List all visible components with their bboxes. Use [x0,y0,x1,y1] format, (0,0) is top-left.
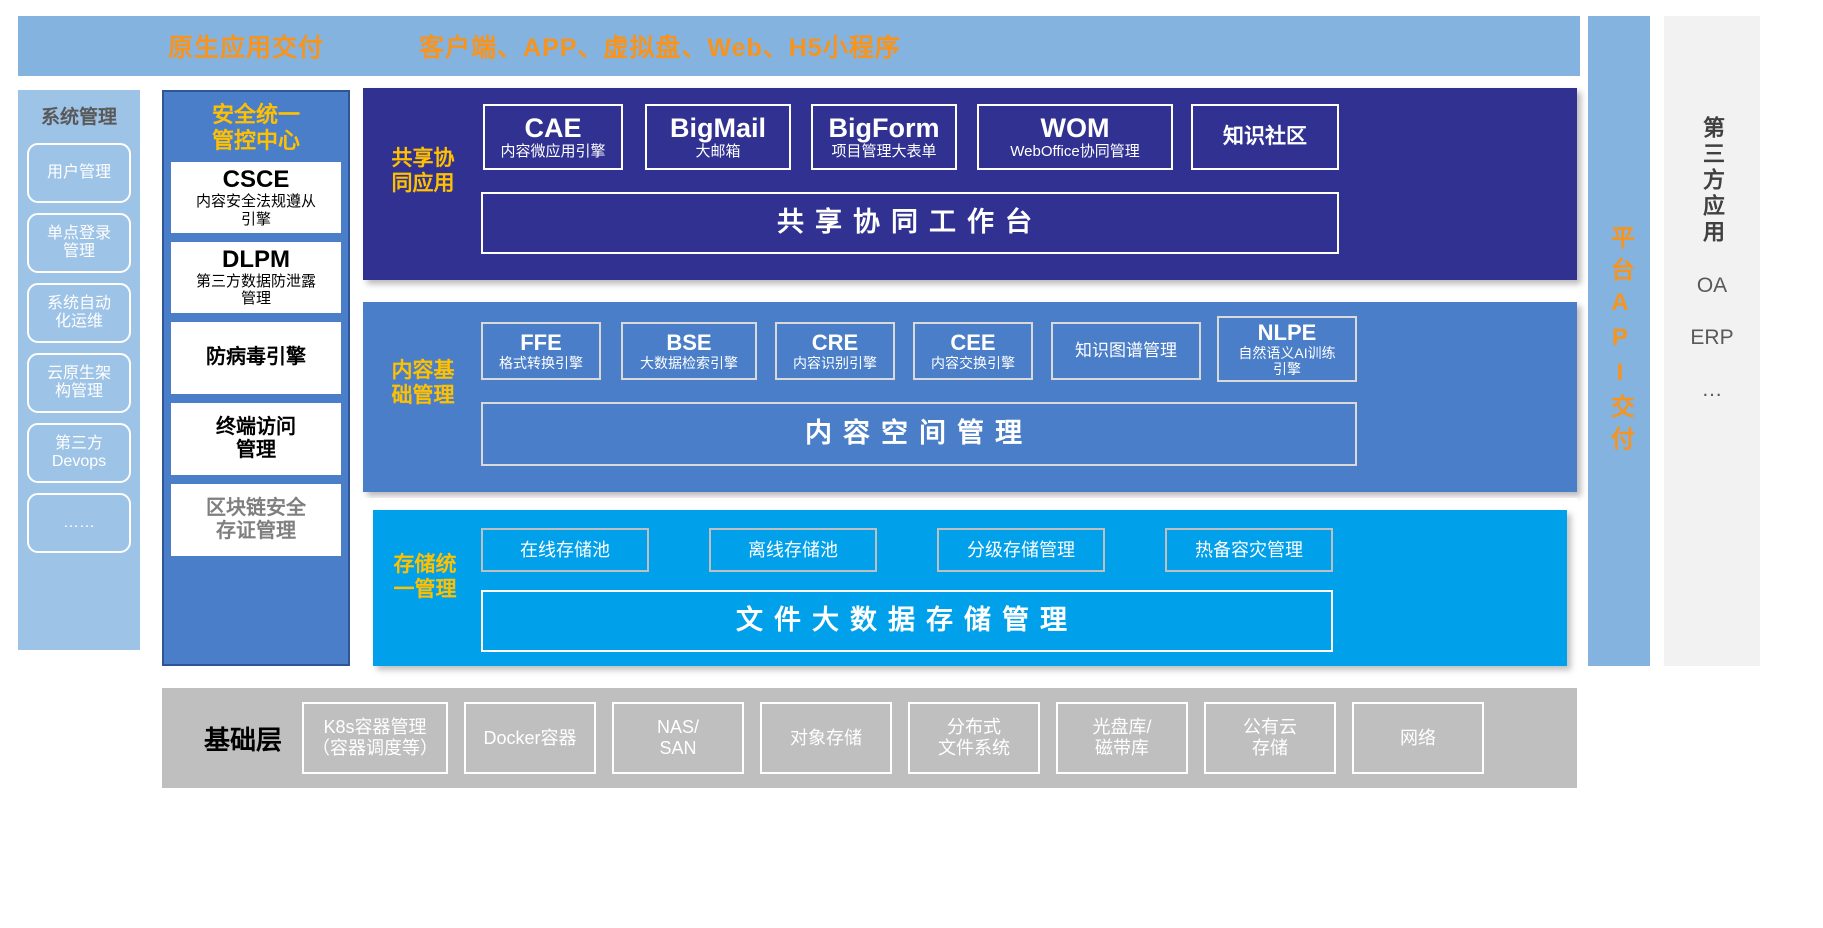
top-delivery-banner: 原生应用交付 客户端、APP、虚拟盘、Web、H5小程序 [18,16,1580,76]
content-base-label: 内容基础管理 [371,358,475,408]
storage-band-wrapper: 存储统一管理 在线存储池 离线存储池 分级存储管理 热备容灾管理 文件大数据存储… [363,498,1577,666]
sysmgmt-item-sso[interactable]: 单点登录管理 [27,213,131,273]
collab-card-cae-code: CAE [524,113,581,143]
content-card-ffe[interactable]: FFE 格式转换引擎 [481,322,601,380]
content-card-cre-sub: 内容识别引擎 [793,355,877,371]
shared-collaboration-label: 共享协同应用 [371,146,475,196]
third-party-column: 第三方应用 OA ERP … [1664,16,1760,666]
shared-collaboration-band: 共享协同应用 CAE 内容微应用引擎 BigMail 大邮箱 BigForm 项… [363,88,1577,280]
content-card-bse-code: BSE [666,331,711,356]
system-management-column: 系统管理 用户管理 单点登录管理 系统自动化运维 云原生架构管理 第三方Devo… [18,90,140,650]
security-item-csce-sub: 内容安全法规遵从引擎 [196,193,316,228]
content-card-knowledge-graph-label: 知识图谱管理 [1075,341,1177,361]
content-card-bse-sub: 大数据检索引擎 [640,355,738,371]
content-card-cee[interactable]: CEE 内容交换引擎 [913,322,1033,380]
collab-card-wom[interactable]: WOM WebOffice协同管理 [977,104,1173,170]
platform-api-label: 平台API交付 [1605,225,1634,458]
storage-card-offline-pool[interactable]: 离线存储池 [709,528,877,572]
collab-card-knowledge-community[interactable]: 知识社区 [1191,104,1339,170]
content-card-cre-code: CRE [812,331,858,356]
security-item-blockchain[interactable]: 区块链安全存证管理 [171,484,341,556]
storage-label: 存储统一管理 [375,552,475,602]
third-party-item-oa[interactable]: OA [1697,274,1727,298]
storage-main-file-bigdata[interactable]: 文件大数据存储管理 [481,590,1333,652]
storage-band: 存储统一管理 在线存储池 离线存储池 分级存储管理 热备容灾管理 文件大数据存储… [373,510,1567,666]
infra-card-k8s[interactable]: K8s容器管理（容器调度等） [302,702,448,774]
collab-card-cae-sub: 内容微应用引擎 [500,143,605,160]
security-center-title: 安全统一管控中心 [212,102,300,154]
system-management-title: 系统管理 [41,102,117,129]
banner-clients-label: 客户端、APP、虚拟盘、Web、H5小程序 [419,28,901,64]
infra-card-distributed-fs[interactable]: 分布式文件系统 [908,702,1040,774]
third-party-item-erp[interactable]: ERP [1690,326,1733,350]
content-card-bse[interactable]: BSE 大数据检索引擎 [621,322,757,380]
infra-card-optical-tape[interactable]: 光盘库/磁带库 [1056,702,1188,774]
security-item-terminal-access[interactable]: 终端访问管理 [171,403,341,475]
content-base-band: 内容基础管理 FFE 格式转换引擎 BSE 大数据检索引擎 CRE 内容识别引擎… [363,302,1577,492]
content-card-ffe-sub: 格式转换引擎 [499,355,583,371]
shared-collaboration-workbench[interactable]: 共享协同工作台 [481,192,1339,254]
sysmgmt-item-automation[interactable]: 系统自动化运维 [27,283,131,343]
banner-native-delivery-label: 原生应用交付 [168,28,324,64]
collab-card-wom-code: WOM [1041,113,1110,143]
security-item-antivirus[interactable]: 防病毒引擎 [171,322,341,394]
infrastructure-layer: 基础层 K8s容器管理（容器调度等） Docker容器 NAS/SAN 对象存储… [162,688,1577,788]
third-party-title: 第三方应用 [1696,116,1728,246]
content-card-cee-sub: 内容交换引擎 [931,355,1015,371]
security-item-dlpm-sub: 第三方数据防泄露管理 [196,273,316,308]
collab-card-bigmail-sub: 大邮箱 [695,143,740,160]
storage-card-tiered[interactable]: 分级存储管理 [937,528,1105,572]
storage-card-online-pool[interactable]: 在线存储池 [481,528,649,572]
architecture-diagram: 原生应用交付 客户端、APP、虚拟盘、Web、H5小程序 系统管理 用户管理 单… [0,0,1823,928]
infrastructure-title: 基础层 [204,720,282,757]
content-card-cee-code: CEE [950,331,995,356]
infra-card-docker[interactable]: Docker容器 [464,702,596,774]
security-item-csce[interactable]: CSCE 内容安全法规遵从引擎 [171,162,341,233]
content-card-nlpe[interactable]: NLPE 自然语义AI训练引擎 [1217,316,1357,382]
collab-card-bigform[interactable]: BigForm 项目管理大表单 [811,104,957,170]
content-space-management[interactable]: 内容空间管理 [481,402,1357,466]
infra-card-network[interactable]: 网络 [1352,702,1484,774]
content-card-cre[interactable]: CRE 内容识别引擎 [775,322,895,380]
collab-card-bigmail[interactable]: BigMail 大邮箱 [645,104,791,170]
security-center-column: 安全统一管控中心 CSCE 内容安全法规遵从引擎 DLPM 第三方数据防泄露管理… [162,90,350,666]
infra-card-nas-san[interactable]: NAS/SAN [612,702,744,774]
security-item-dlpm-code: DLPM [222,247,290,273]
content-card-knowledge-graph[interactable]: 知识图谱管理 [1051,322,1201,380]
collab-card-bigform-code: BigForm [829,113,940,143]
collab-card-bigform-sub: 项目管理大表单 [831,143,936,160]
collab-card-bigmail-code: BigMail [670,113,766,143]
sysmgmt-item-devops[interactable]: 第三方Devops [27,423,131,483]
sysmgmt-item-user[interactable]: 用户管理 [27,143,131,203]
content-card-nlpe-sub: 自然语义AI训练引擎 [1238,345,1335,377]
sysmgmt-item-cloudnative[interactable]: 云原生架构管理 [27,353,131,413]
infra-card-object-storage[interactable]: 对象存储 [760,702,892,774]
collab-card-wom-sub: WebOffice协同管理 [1010,143,1139,160]
sysmgmt-item-more[interactable]: …… [27,493,131,553]
storage-card-hot-standby[interactable]: 热备容灾管理 [1165,528,1333,572]
infra-card-public-cloud[interactable]: 公有云存储 [1204,702,1336,774]
security-item-dlpm[interactable]: DLPM 第三方数据防泄露管理 [171,242,341,313]
security-item-csce-code: CSCE [223,167,290,193]
content-card-nlpe-code: NLPE [1258,321,1317,346]
third-party-item-more[interactable]: … [1702,378,1723,402]
platform-api-column: 平台API交付 [1588,16,1650,666]
collab-card-knowledge-community-label: 知识社区 [1223,125,1307,149]
content-card-ffe-code: FFE [520,331,562,356]
collab-card-cae[interactable]: CAE 内容微应用引擎 [483,104,623,170]
